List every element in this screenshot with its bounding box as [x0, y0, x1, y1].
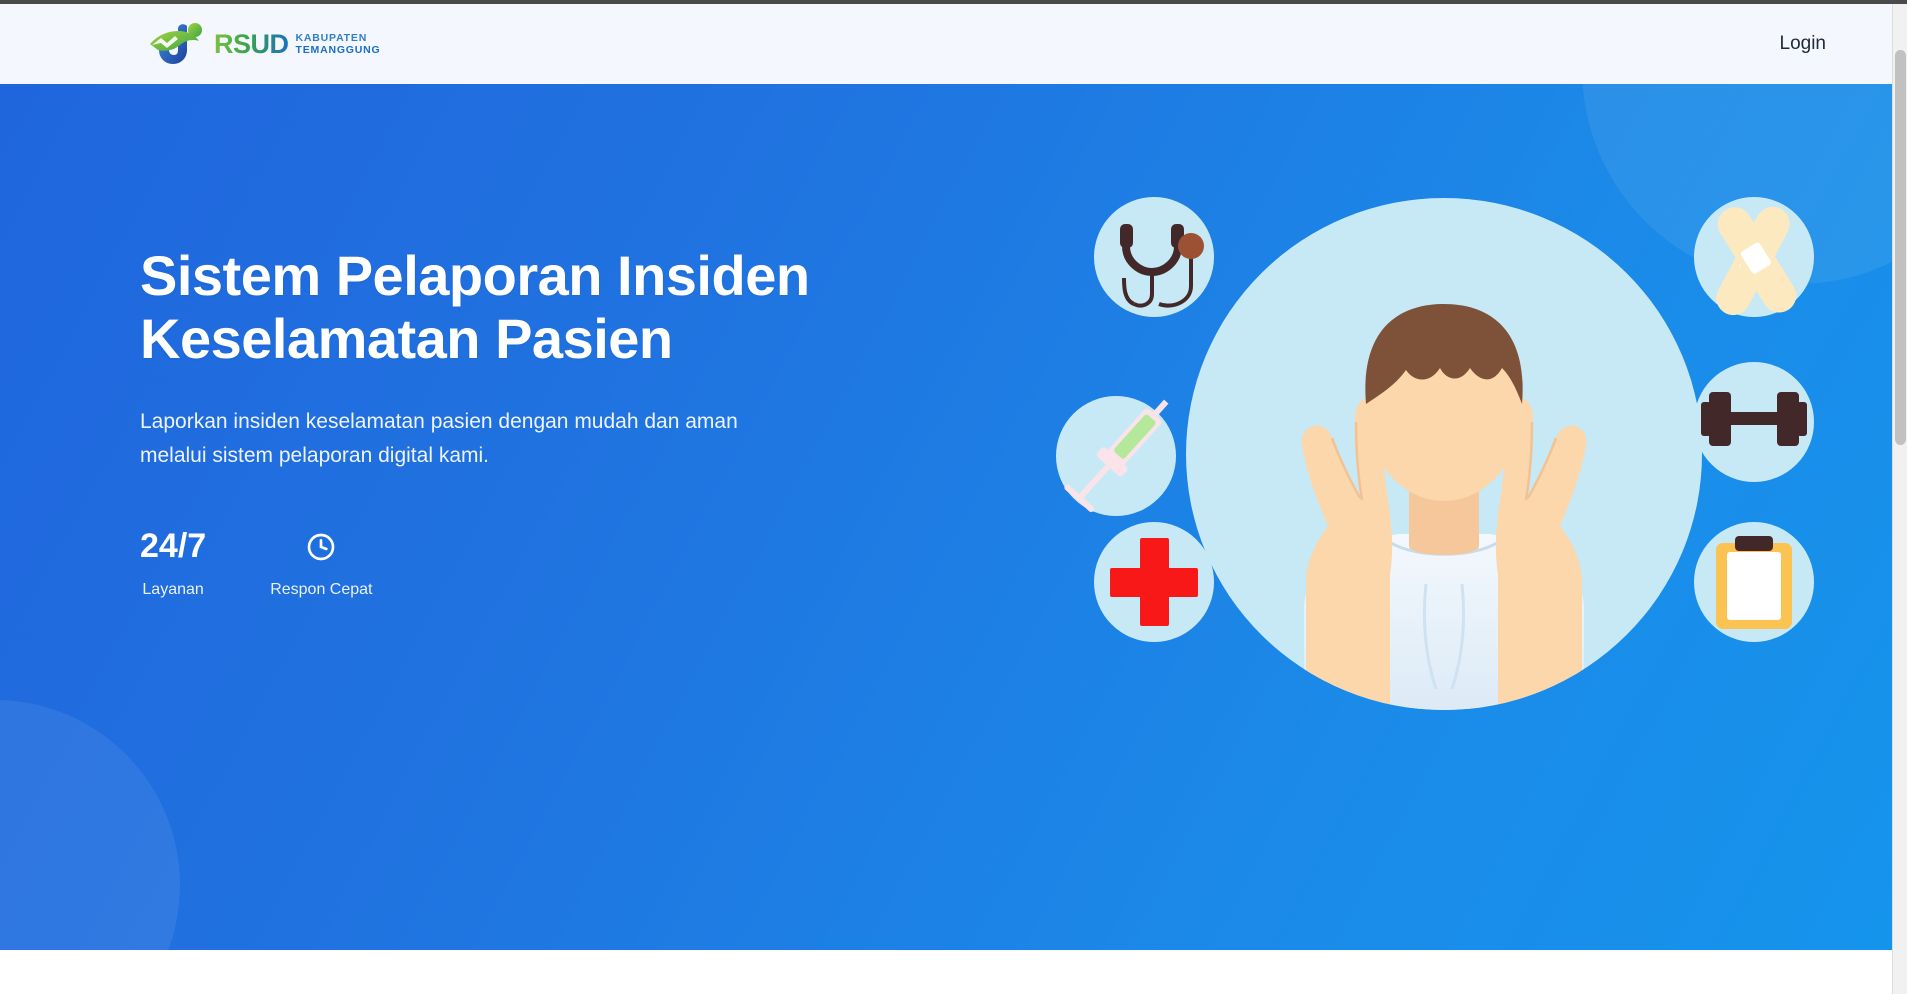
site-header: RSUD KABUPATEN TEMANGGUNG Login: [0, 4, 1892, 84]
stat-fast-response: Respon Cepat: [270, 525, 372, 599]
hero-stats: 24/7 Layanan Respon Cepat: [140, 525, 900, 599]
clock-icon: [305, 525, 337, 569]
login-link[interactable]: Login: [1770, 27, 1837, 61]
bandage-icon: [1694, 197, 1814, 321]
page-scrollbar[interactable]: [1892, 4, 1907, 994]
brand-logo[interactable]: RSUD KABUPATEN TEMANGGUNG: [148, 22, 381, 66]
hero-subtitle: Laporkan insiden keselamatan pasien deng…: [140, 405, 860, 473]
stat-label-respon-cepat: Respon Cepat: [270, 581, 372, 599]
hero-subtitle-line2: melalui sistem pelaporan digital kami.: [140, 444, 489, 467]
stat-value-247: 24/7: [140, 525, 206, 569]
rsud-temanggung-logo-icon: [148, 22, 210, 66]
hero-subtitle-line1: Laporkan insiden keselamatan pasien deng…: [140, 410, 738, 433]
page-title-line2: Keselamatan Pasien: [140, 307, 900, 370]
stethoscope-icon: [1094, 197, 1214, 317]
hero-section: Sistem Pelaporan Insiden Keselamatan Pas…: [0, 84, 1892, 950]
dumbbell-icon: [1694, 362, 1814, 482]
red-cross-icon: [1094, 522, 1214, 642]
page-bottom-whitespace: [0, 950, 1892, 994]
hero-copy: Sistem Pelaporan Insiden Keselamatan Pas…: [140, 244, 900, 599]
page-viewport: RSUD KABUPATEN TEMANGGUNG Login Sistem P…: [0, 4, 1892, 994]
stat-label-layanan: Layanan: [142, 581, 203, 599]
page-title: Sistem Pelaporan Insiden Keselamatan Pas…: [140, 244, 900, 371]
syringe-icon: [1056, 389, 1180, 516]
brand-subtitle-line1: KABUPATEN: [296, 33, 381, 44]
brand-subtitle-line2: TEMANGGUNG: [296, 45, 381, 56]
clipboard-icon: [1694, 522, 1814, 642]
patient-safety-illustration: [1054, 154, 1834, 714]
scrollbar-thumb[interactable]: [1895, 50, 1906, 445]
page-title-line1: Sistem Pelaporan Insiden: [140, 244, 900, 307]
brand-name: RSUD: [214, 31, 289, 58]
stat-service-hours: 24/7 Layanan: [140, 525, 206, 599]
